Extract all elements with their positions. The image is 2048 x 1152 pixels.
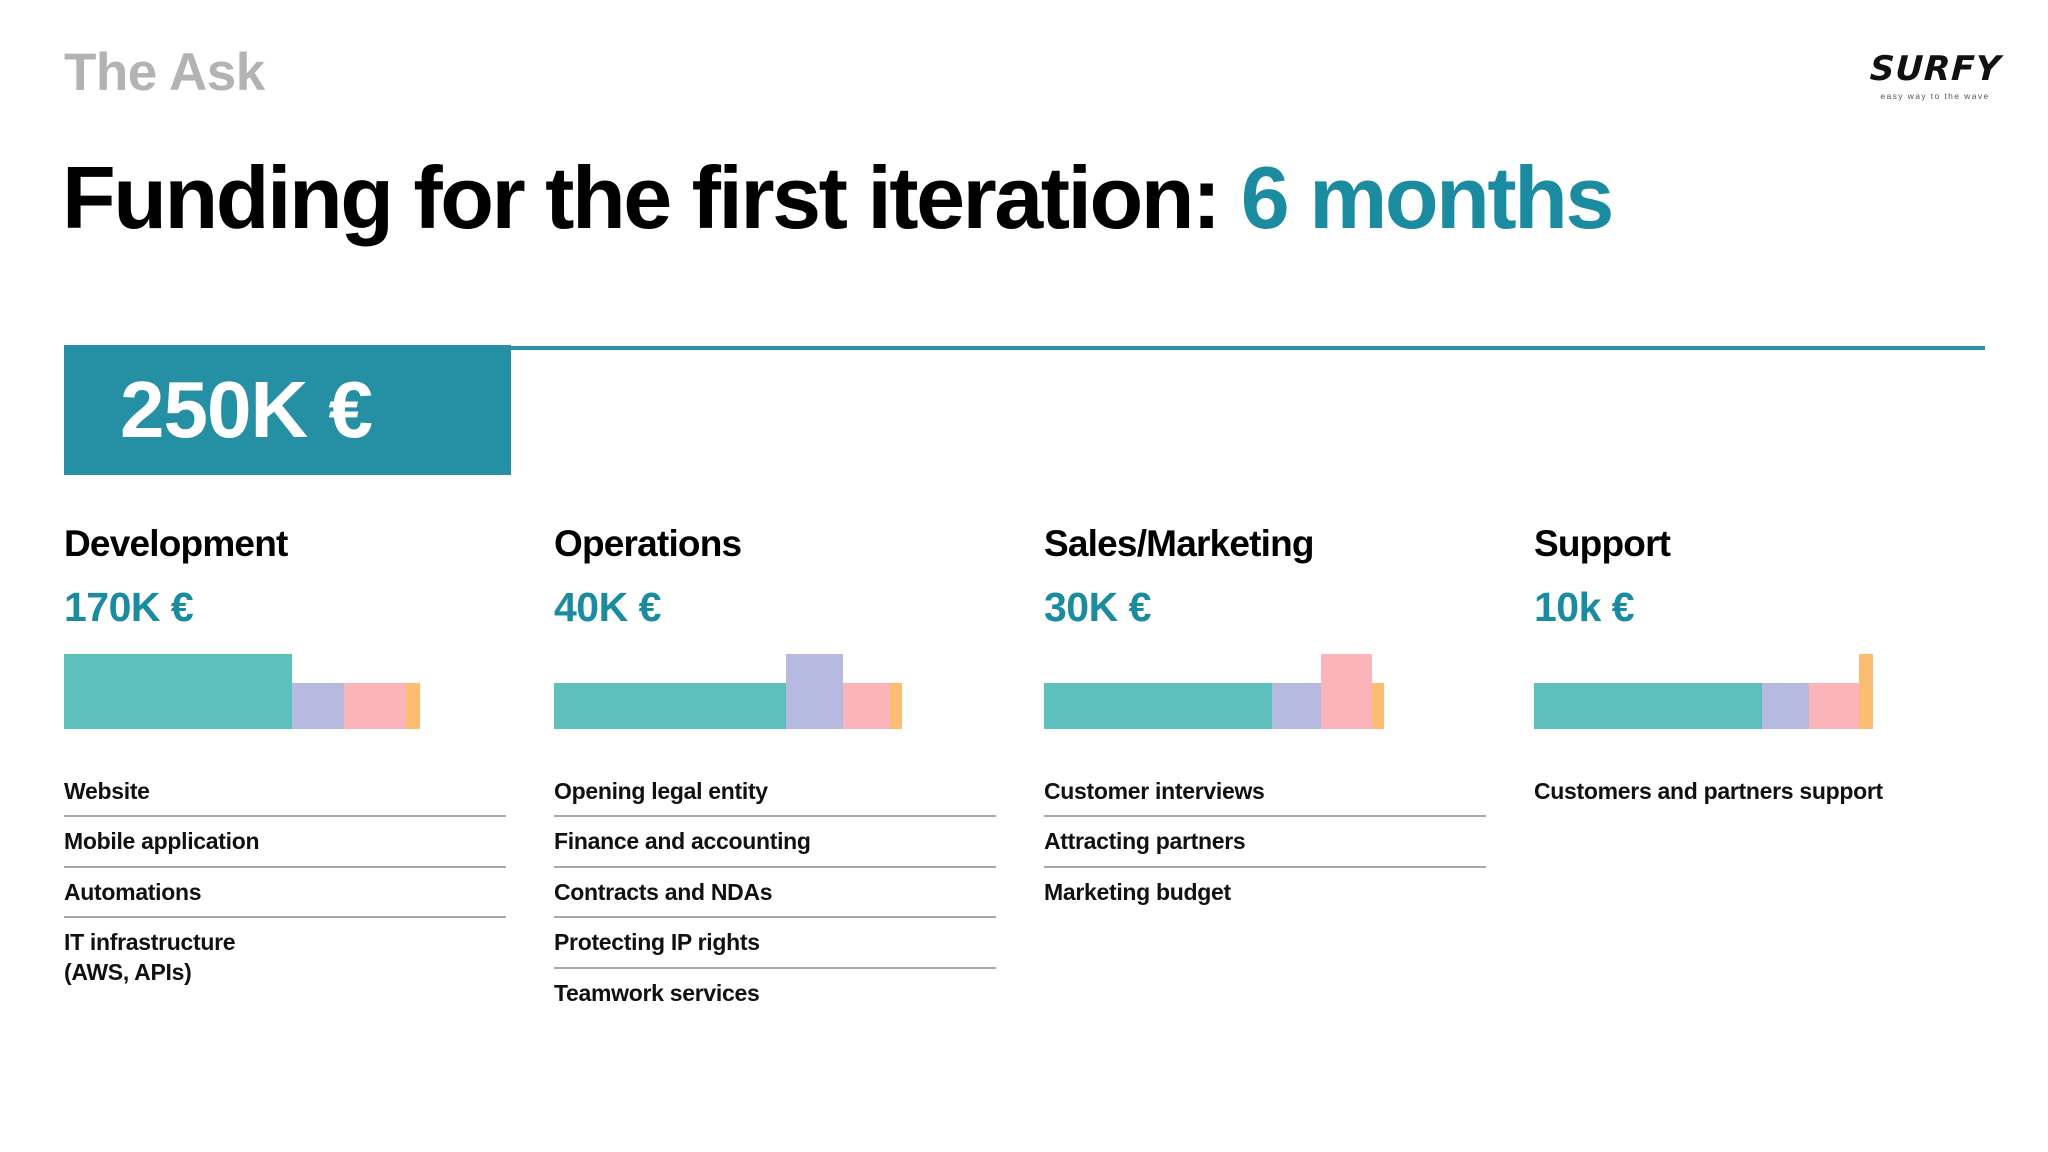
- bar-segment-sales: [1809, 683, 1859, 729]
- section-divider-rule: [330, 346, 1985, 350]
- bar-segment-sales: [344, 683, 406, 729]
- stacked-bar: [1534, 654, 1976, 729]
- list-item: Finance and accounting: [554, 827, 996, 867]
- budget-column: Sales/Marketing30K €Customer interviewsA…: [1044, 525, 1534, 1027]
- budget-column-title: Sales/Marketing: [1044, 525, 1534, 562]
- list-item: Protecting IP rights: [554, 928, 996, 968]
- list-item: Marketing budget: [1044, 878, 1486, 916]
- list-item: Opening legal entity: [554, 777, 996, 817]
- list-item: Attracting partners: [1044, 827, 1486, 867]
- brand-logo-mark: SURFY: [1869, 52, 2001, 86]
- list-item: IT infrastructure (AWS, APIs): [64, 928, 506, 996]
- bar-segment-operations: [786, 654, 843, 729]
- stacked-bar: [1044, 654, 1486, 729]
- brand-logo-tagline: easy way to the wave: [1870, 91, 2000, 101]
- budget-breakdown-columns: Development170K €WebsiteMobile applicati…: [64, 525, 1989, 1027]
- list-item: Contracts and NDAs: [554, 878, 996, 918]
- budget-item-list: Opening legal entityFinance and accounti…: [554, 777, 996, 1017]
- bar-segment-support: [406, 683, 420, 729]
- budget-column: Operations40K €Opening legal entityFinan…: [554, 525, 1044, 1027]
- budget-column: Development170K €WebsiteMobile applicati…: [64, 525, 554, 1027]
- budget-column-amount: 40K €: [554, 587, 1044, 628]
- budget-column-amount: 10k €: [1534, 587, 2024, 628]
- budget-column-title: Operations: [554, 525, 1044, 562]
- budget-column-title: Support: [1534, 525, 2024, 562]
- bar-segment-development: [1044, 683, 1272, 729]
- budget-item-list: WebsiteMobile applicationAutomationsIT i…: [64, 777, 506, 996]
- stacked-bar: [64, 654, 506, 729]
- list-item: Website: [64, 777, 506, 817]
- list-item: Customer interviews: [1044, 777, 1486, 817]
- budget-column-title: Development: [64, 525, 554, 562]
- bar-segment-support: [1372, 683, 1384, 729]
- page-title-main: Funding for the first iteration:: [62, 148, 1241, 247]
- budget-column: Support10k €Customers and partners suppo…: [1534, 525, 2024, 1027]
- bar-segment-operations: [1762, 683, 1809, 729]
- bar-segment-sales: [1321, 654, 1372, 729]
- bar-segment-development: [554, 683, 786, 729]
- bar-segment-operations: [1272, 683, 1321, 729]
- list-item: Mobile application: [64, 827, 506, 867]
- bar-segment-sales: [843, 683, 890, 729]
- stacked-bar: [554, 654, 996, 729]
- budget-column-amount: 30K €: [1044, 587, 1534, 628]
- total-funding-amount: 250K €: [64, 370, 372, 450]
- page-title-accent: 6 months: [1241, 148, 1612, 247]
- bar-segment-development: [1534, 683, 1762, 729]
- total-funding-badge: 250K €: [64, 345, 511, 475]
- page-eyebrow: The Ask: [64, 46, 265, 99]
- list-item: Automations: [64, 878, 506, 918]
- budget-item-list: Customer interviewsAttracting partnersMa…: [1044, 777, 1486, 916]
- list-item: Customers and partners support: [1534, 777, 1976, 815]
- page-title: Funding for the first iteration: 6 month…: [62, 152, 1612, 244]
- bar-segment-support: [1859, 654, 1873, 729]
- bar-segment-development: [64, 654, 292, 729]
- budget-item-list: Customers and partners support: [1534, 777, 1976, 815]
- bar-segment-operations: [292, 683, 344, 729]
- bar-segment-support: [890, 683, 902, 729]
- list-item: Teamwork services: [554, 979, 996, 1017]
- brand-logo: SURFY easy way to the wave: [1870, 52, 2000, 101]
- budget-column-amount: 170K €: [64, 587, 554, 628]
